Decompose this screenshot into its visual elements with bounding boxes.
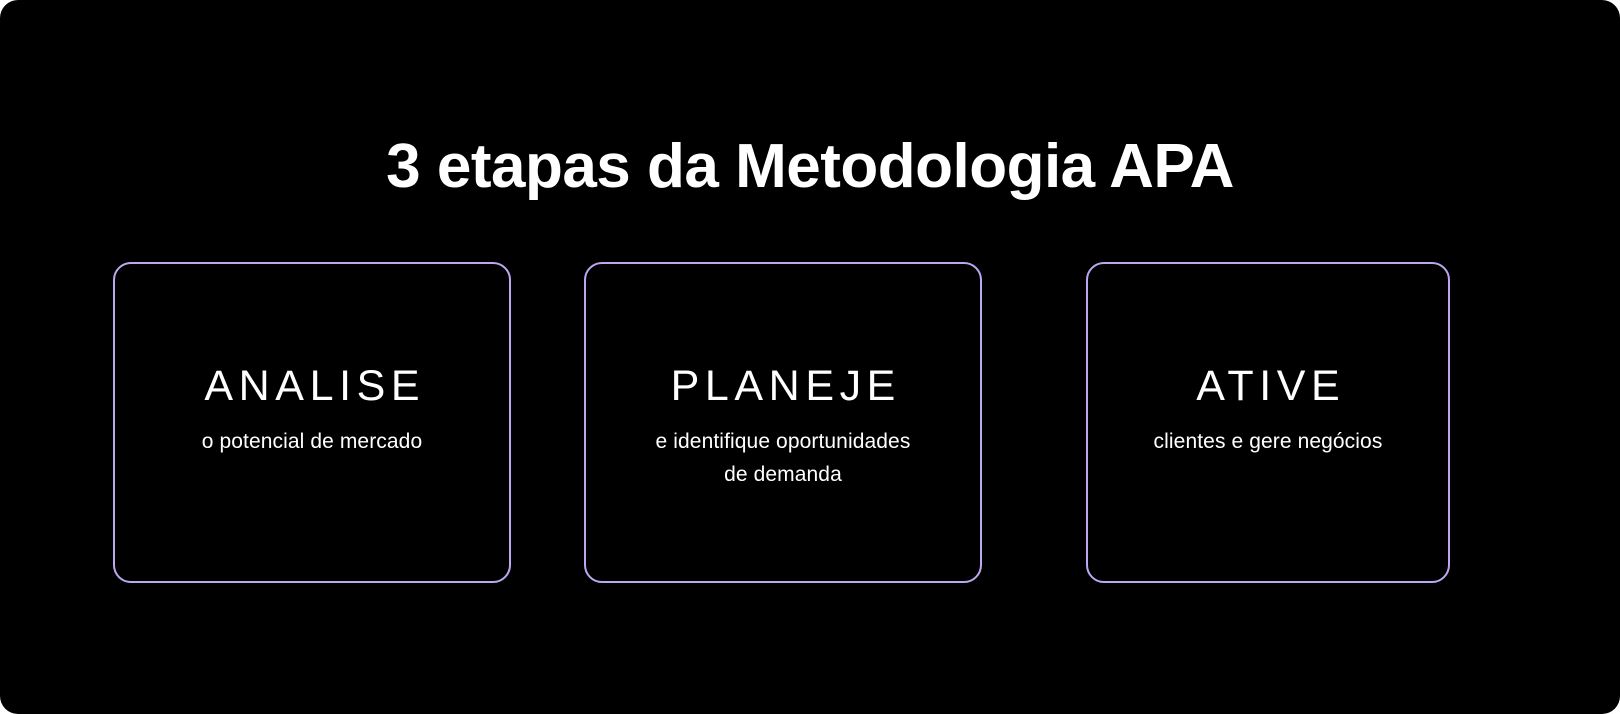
- step-card-analise[interactable]: ANALISE o potencial de mercado: [113, 262, 511, 583]
- step-card-subtitle: e identifique oportunidades de demanda: [596, 425, 970, 491]
- steps-card-row: ANALISE o potencial de mercado PLANEJE e…: [113, 262, 1450, 583]
- page-title: 3 etapas da Metodologia APA: [0, 132, 1620, 201]
- step-card-subtitle-line: de demanda: [614, 458, 952, 491]
- step-card-ative[interactable]: ATIVE clientes e gere negócios: [1086, 262, 1450, 583]
- step-card-subtitle: clientes e gere negócios: [1098, 425, 1438, 458]
- step-card-subtitle: o potencial de mercado: [125, 425, 499, 458]
- step-card-content: PLANEJE e identifique oportunidades de d…: [586, 364, 980, 491]
- step-card-subtitle-line: clientes e gere negócios: [1116, 425, 1420, 458]
- slide-canvas: 3 etapas da Metodologia APA ANALISE o po…: [0, 0, 1620, 714]
- step-card-heading: ATIVE: [1098, 364, 1438, 409]
- step-card-heading: ANALISE: [125, 364, 499, 409]
- step-card-subtitle-line: o potencial de mercado: [143, 425, 481, 458]
- step-card-content: ATIVE clientes e gere negócios: [1088, 364, 1448, 458]
- step-card-heading: PLANEJE: [596, 364, 970, 409]
- step-card-content: ANALISE o potencial de mercado: [115, 364, 509, 458]
- step-card-planeje[interactable]: PLANEJE e identifique oportunidades de d…: [584, 262, 982, 583]
- step-card-subtitle-line: e identifique oportunidades: [614, 425, 952, 458]
